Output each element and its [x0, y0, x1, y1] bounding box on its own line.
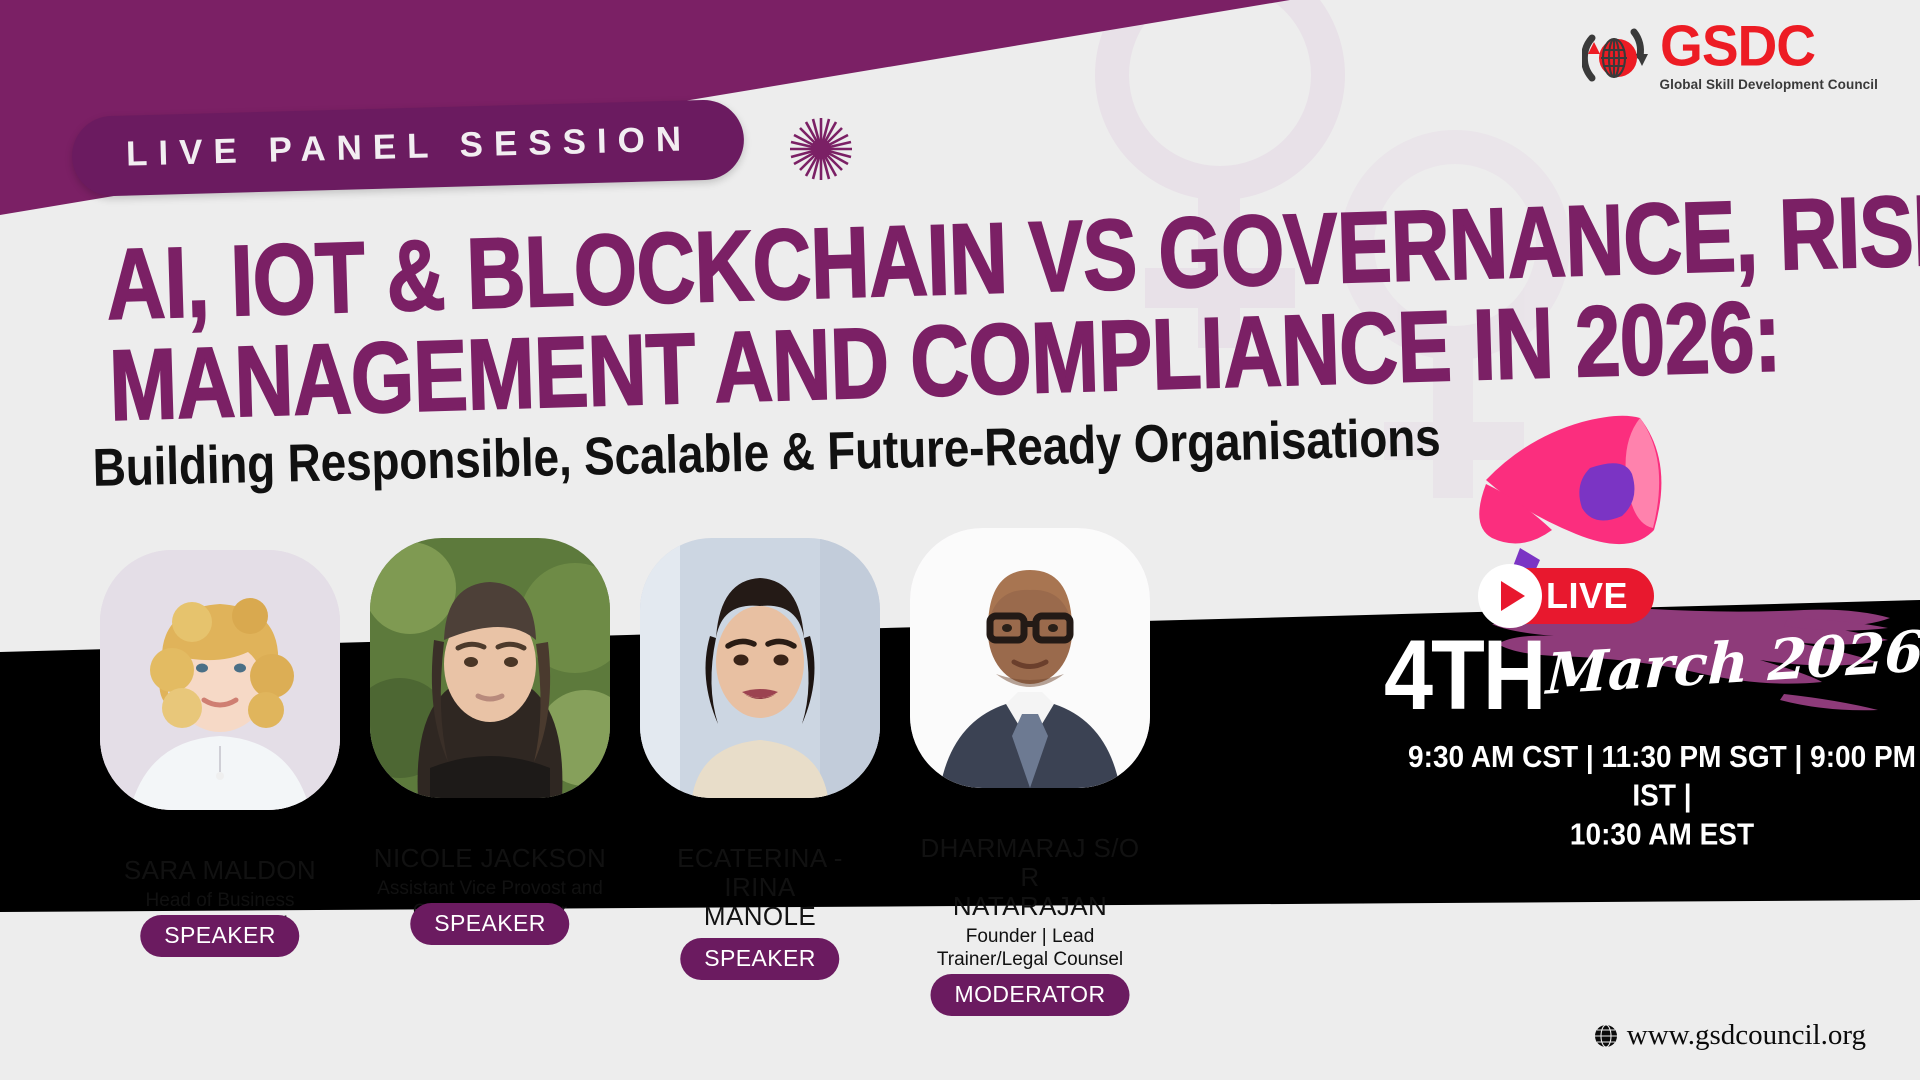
- event-timezones: 9:30 AM CST | 11:30 PM SGT | 9:00 PM IST…: [1392, 738, 1920, 854]
- role-badge: SPEAKER: [410, 903, 569, 945]
- speaker-name: NICOLE JACKSON: [370, 844, 610, 873]
- speaker-name: ECATERINA - IRINA MANOLE: [640, 844, 880, 931]
- speaker-list: SPEAKER SARA MALDON Head of Business Aut…: [0, 560, 1400, 1020]
- gsdc-logo[interactable]: GSDC Global Skill Development Council: [1582, 22, 1879, 94]
- speaker-card-4: MODERATOR DHARMARAJ S/O R NATARAJAN Foun…: [910, 528, 1150, 995]
- globe-icon: [1582, 22, 1654, 94]
- role-badge: MODERATOR: [931, 974, 1130, 1016]
- logo-wordmark: GSDC: [1660, 22, 1892, 75]
- live-panel-session-badge: LIVE PANEL SESSION: [71, 99, 745, 197]
- speaker-card-1: SPEAKER SARA MALDON Head of Business Aut…: [100, 550, 340, 936]
- avatar: [100, 550, 340, 810]
- speaker-name: DHARMARAJ S/O R NATARAJAN: [910, 834, 1150, 921]
- avatar: [910, 528, 1150, 788]
- badge-row: LIVE PANEL SESSION: [72, 108, 854, 188]
- role-badge: SPEAKER: [140, 915, 299, 957]
- page-title: AI, IOT & BLOCKCHAIN VS GOVERNANCE, RISK…: [105, 180, 1920, 418]
- event-day: 4TH: [1384, 618, 1544, 732]
- poster-canvas: GSDC Global Skill Development Council LI…: [0, 0, 1920, 1080]
- sunburst-icon: [788, 116, 854, 182]
- live-badge: LIVE: [1484, 568, 1654, 624]
- globe-icon: [1594, 1024, 1618, 1048]
- website-link[interactable]: www.gsdcouncil.org: [1594, 1019, 1866, 1052]
- speaker-name: SARA MALDON: [100, 856, 340, 885]
- event-date-block: LIVE 4TH March 2026 9:30 AM CST | 11:30 …: [1400, 470, 1920, 890]
- speaker-card-2: SPEAKER NICOLE JACKSON Assistant Vice Pr…: [370, 538, 610, 924]
- live-label: LIVE: [1546, 575, 1628, 617]
- avatar: [370, 538, 610, 798]
- avatar: [640, 538, 880, 798]
- speaker-card-3: SPEAKER ECATERINA - IRINA MANOLE CEO: [640, 538, 880, 959]
- website-url: www.gsdcouncil.org: [1627, 1019, 1866, 1052]
- role-badge: SPEAKER: [680, 938, 839, 980]
- logo-tagline: Global Skill Development Council: [1660, 77, 1879, 92]
